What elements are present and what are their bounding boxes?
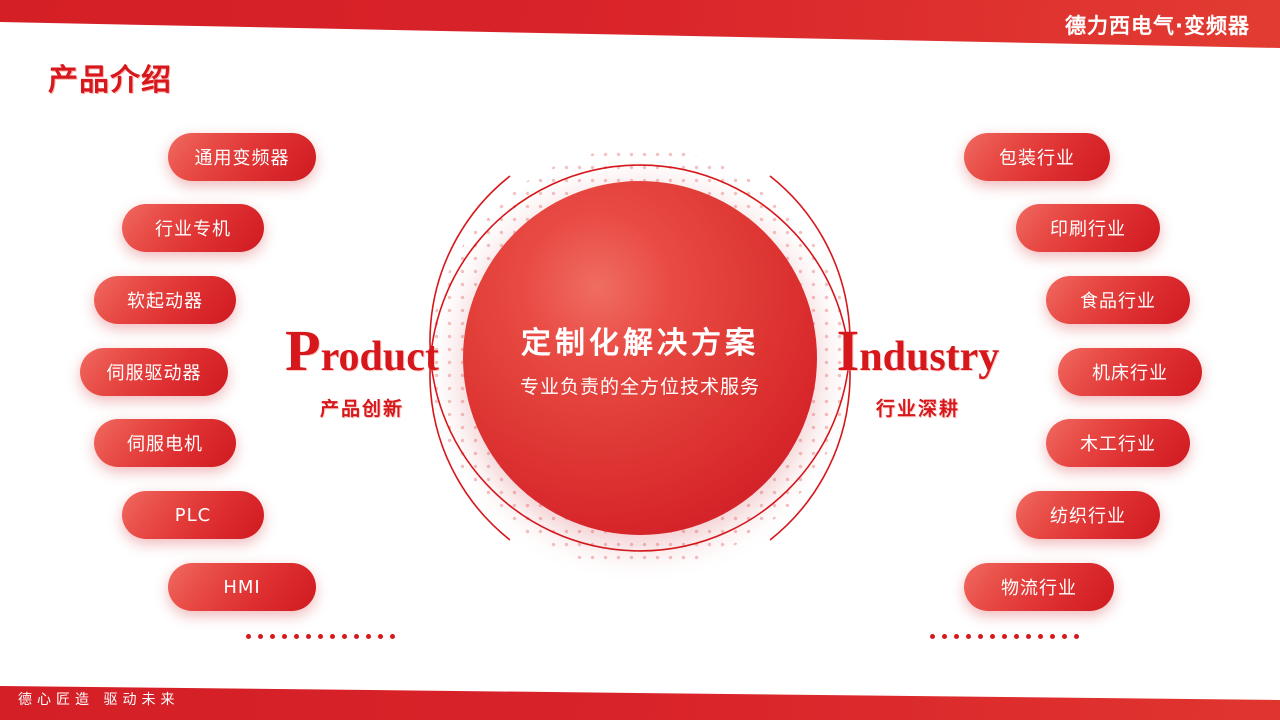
dot-icon bbox=[282, 634, 287, 639]
product-pill[interactable]: HMI bbox=[168, 563, 316, 611]
industry-heading-cap: I bbox=[837, 318, 860, 383]
industry-pill[interactable]: 印刷行业 bbox=[1016, 204, 1160, 252]
dot-icon bbox=[390, 634, 395, 639]
core-title: 定制化解决方案 bbox=[521, 318, 759, 362]
dot-icon bbox=[366, 634, 371, 639]
dot-icon bbox=[942, 634, 947, 639]
industry-pill[interactable]: 机床行业 bbox=[1058, 348, 1202, 396]
industry-pill[interactable]: 物流行业 bbox=[964, 563, 1114, 611]
dot-icon bbox=[990, 634, 995, 639]
core-sphere: 定制化解决方案 专业负责的全方位技术服务 bbox=[463, 181, 817, 535]
dot-icon bbox=[930, 634, 935, 639]
dot-icon bbox=[1038, 634, 1043, 639]
footer-bar bbox=[0, 660, 1280, 720]
brand-logo: 德力西电气·变频器 bbox=[1065, 10, 1250, 40]
footer-slogan: 德心匠造 驱动未来 bbox=[18, 689, 179, 709]
product-heading-cap: P bbox=[285, 318, 320, 383]
industry-pill[interactable]: 包装行业 bbox=[964, 133, 1110, 181]
product-pill[interactable]: 伺服电机 bbox=[94, 419, 236, 467]
industry-dot-row bbox=[930, 634, 1079, 639]
product-heading-cn: 产品创新 bbox=[262, 394, 462, 421]
industry-pill[interactable]: 纺织行业 bbox=[1016, 491, 1160, 539]
product-dot-row bbox=[246, 634, 395, 639]
dot-icon bbox=[1002, 634, 1007, 639]
dot-icon bbox=[954, 634, 959, 639]
dot-icon bbox=[330, 634, 335, 639]
product-heading: Product 产品创新 bbox=[262, 322, 462, 421]
dot-icon bbox=[294, 634, 299, 639]
dot-icon bbox=[1050, 634, 1055, 639]
product-heading-en: Product bbox=[262, 322, 462, 380]
industry-heading-en: Industry bbox=[818, 322, 1018, 380]
industry-heading-rest: ndustry bbox=[859, 334, 999, 380]
dot-icon bbox=[966, 634, 971, 639]
dot-icon bbox=[342, 634, 347, 639]
industry-heading-cn: 行业深耕 bbox=[818, 394, 1018, 421]
industry-heading: Industry 行业深耕 bbox=[818, 322, 1018, 421]
dot-icon bbox=[378, 634, 383, 639]
product-heading-rest: roduct bbox=[321, 334, 439, 380]
dot-icon bbox=[354, 634, 359, 639]
dot-icon bbox=[1026, 634, 1031, 639]
product-pill[interactable]: 软起动器 bbox=[94, 276, 236, 324]
industry-pill[interactable]: 食品行业 bbox=[1046, 276, 1190, 324]
dot-icon bbox=[258, 634, 263, 639]
slide-root: 德力西电气·变频器 产品介绍 定制化解决方案 专业负责的全方位技术服务 Prod… bbox=[0, 0, 1280, 720]
product-pill[interactable]: PLC bbox=[122, 491, 264, 539]
product-pill[interactable]: 行业专机 bbox=[122, 204, 264, 252]
dot-icon bbox=[246, 634, 251, 639]
dot-icon bbox=[1062, 634, 1067, 639]
dot-icon bbox=[306, 634, 311, 639]
dot-icon bbox=[978, 634, 983, 639]
page-title: 产品介绍 bbox=[48, 55, 172, 99]
industry-pill[interactable]: 木工行业 bbox=[1046, 419, 1190, 467]
dot-icon bbox=[1074, 634, 1079, 639]
core-subtitle: 专业负责的全方位技术服务 bbox=[520, 372, 760, 399]
dot-icon bbox=[318, 634, 323, 639]
dot-icon bbox=[1014, 634, 1019, 639]
product-pill[interactable]: 伺服驱动器 bbox=[80, 348, 228, 396]
dot-icon bbox=[270, 634, 275, 639]
product-pill[interactable]: 通用变频器 bbox=[168, 133, 316, 181]
